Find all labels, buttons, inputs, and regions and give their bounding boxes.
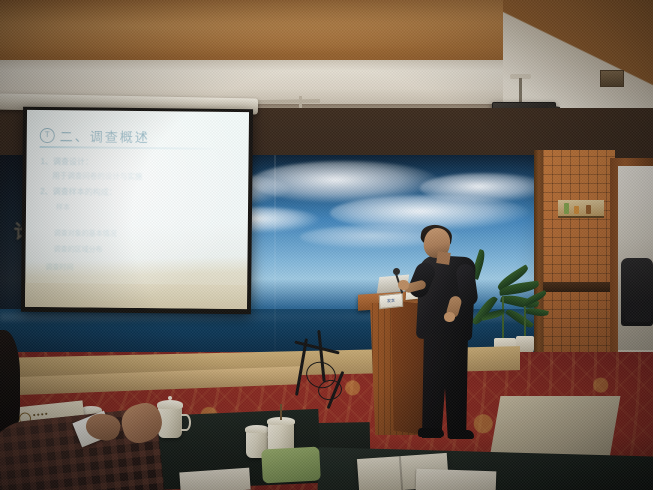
presenter-neck — [436, 251, 451, 265]
paper-handout — [416, 469, 497, 490]
backdrop-seam — [274, 155, 276, 355]
slide-line: 调查时间 — [45, 262, 73, 272]
speaker-mount-rod — [519, 78, 522, 104]
air-vent-icon — [600, 70, 624, 87]
slide-body: 1、调查设计：用于调查问卷的设计与实施2、调查样本的构成：样本调查对象的基本情况… — [27, 110, 249, 112]
presenter-right-hand — [444, 312, 455, 322]
teacup-handle — [181, 414, 191, 431]
presenter-left-hand — [398, 280, 409, 290]
presenter-shoe-right — [448, 430, 474, 439]
office-chair — [621, 258, 653, 326]
projection-screen-surface: T 二、调查概述 1、调查设计：用于调查问卷的设计与实施2、调查样本的构成：样本… — [25, 110, 249, 309]
slide-footer-band — [25, 283, 247, 309]
niche-object — [564, 203, 569, 214]
slide-title: 二、调查概述 — [60, 126, 150, 146]
microphone-head — [393, 268, 400, 275]
stirrer — [280, 404, 282, 420]
projection-screen[interactable]: T 二、调查概述 1、调查设计：用于调查问卷的设计与实施2、调查样本的构成：样本… — [21, 107, 253, 314]
slide-line: 样本 — [56, 202, 70, 212]
meeting-room-photo: 论坛 暨研讨会 T 二、调查概述 1、调查设计：用于调查问卷的设计与实施2、调查… — [0, 0, 653, 490]
paper-handout — [179, 468, 250, 490]
column-niche — [558, 200, 604, 218]
niche-object — [574, 206, 579, 214]
speaker-drop-rod — [299, 96, 302, 108]
slide-line: 调查的区域分布 — [54, 244, 103, 255]
green-folder — [261, 447, 321, 484]
slide-divider — [40, 146, 218, 150]
slide-logo-icon: T — [40, 128, 55, 143]
slide-line: 2、调查样本的构成： — [40, 186, 117, 198]
slide-line: 调查对象的基本情况 — [54, 228, 117, 239]
presenter-shoe-left — [418, 428, 444, 437]
teacup-knob — [168, 396, 172, 400]
lectern-name-sign: 发言 — [379, 293, 403, 309]
niche-object — [586, 205, 591, 214]
slide-line: 用于调查问卷的设计与实施 — [52, 170, 142, 182]
teacup-lid — [157, 400, 183, 409]
teacup-lid — [245, 425, 269, 433]
slide-line: 1、调查设计： — [40, 156, 93, 168]
column-band — [543, 282, 615, 292]
